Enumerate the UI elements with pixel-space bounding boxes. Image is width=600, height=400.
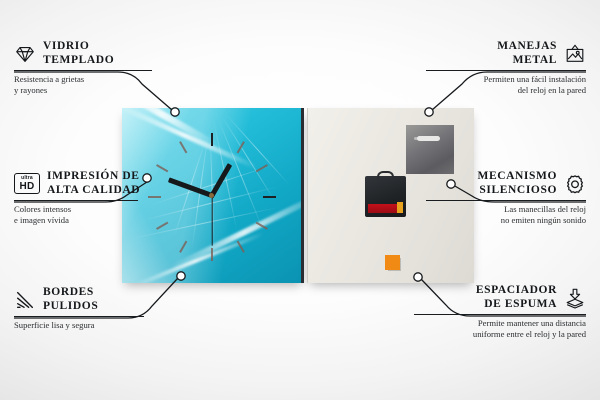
callout-desc-line1: Las manecillas del reloj [504,204,586,214]
callout-title-line2: ALTA CALIDAD [47,184,140,196]
callout-desc-line2: e imagen vívida [14,215,69,225]
callout-desc-line2: del reloj en la pared [518,85,586,95]
callout-rule [414,314,586,315]
ultra-hd-icon: ultra HD [14,173,40,194]
callout-espaciador-espuma[interactable]: ESPACIADOR DE ESPUMA Permite mantener un… [376,284,586,339]
foam-spacer-pad [385,255,400,270]
clock-second-hand [211,194,212,246]
callout-rule [14,70,152,71]
polished-edges-icon [14,289,36,311]
callout-desc-line1: Colores intensos [14,204,71,214]
callout-title-line1: VIDRIO [43,40,89,52]
metal-hanger-plate [406,125,454,174]
callout-desc-line2: y rayones [14,85,47,95]
picture-frame-hanger-icon [564,43,586,65]
callout-desc-line1: Permiten una fácil instalación [484,74,586,84]
hanger-slot [417,136,440,141]
callout-desc-line2: no emiten ningún sonido [501,215,586,225]
callout-title-line2: SILENCIOSO [479,184,557,196]
callout-rule [426,70,586,71]
callout-desc-line1: Permite mantener una distancia [478,318,586,328]
callout-title-line1: ESPACIADOR [476,284,557,296]
callout-rule [426,200,586,201]
ultra-hd-icon-main: HD [19,182,34,192]
callout-title-line1: MECANISMO [477,170,557,182]
callout-title-line2: METAL [513,54,557,66]
callout-rule [14,316,144,317]
callout-desc-line1: Superficie lisa y segura [14,320,94,330]
callout-impresion-alta-calidad[interactable]: ultra HD IMPRESIÓN DE ALTA CALIDAD Color… [14,170,204,225]
callout-desc-line1: Resistencia a grietas [14,74,84,84]
ultra-hd-icon-top: ultra [21,176,33,181]
diamond-icon [14,43,36,65]
callout-title-line2: TEMPLADO [43,54,114,66]
callout-title-line2: PULIDOS [43,300,98,312]
foam-spacer-icon [564,287,586,309]
callout-rule [14,200,138,201]
clock-center-hub [209,193,214,198]
callout-bordes-pulidos[interactable]: BORDES PULIDOS Superficie lisa y segura [14,286,194,331]
callout-vidrio-templado[interactable]: VIDRIO TEMPLADO Resistencia a grietas y … [14,40,194,95]
infographic-stage: VIDRIO TEMPLADO Resistencia a grietas y … [0,0,600,400]
callout-mecanismo-silencioso[interactable]: MECANISMO SILENCIOSO Las manecillas del … [386,170,586,225]
callout-manejas-metal[interactable]: MANEJAS METAL Permiten una fácil instala… [386,40,586,95]
callout-title-line1: IMPRESIÓN DE [47,170,140,182]
callout-title-line2: DE ESPUMA [484,298,557,310]
callout-desc-line2: uniforme entre el reloj y la pared [473,329,586,339]
gear-icon [564,173,586,195]
callout-title-line1: BORDES [43,286,94,298]
callout-title-line1: MANEJAS [497,40,557,52]
